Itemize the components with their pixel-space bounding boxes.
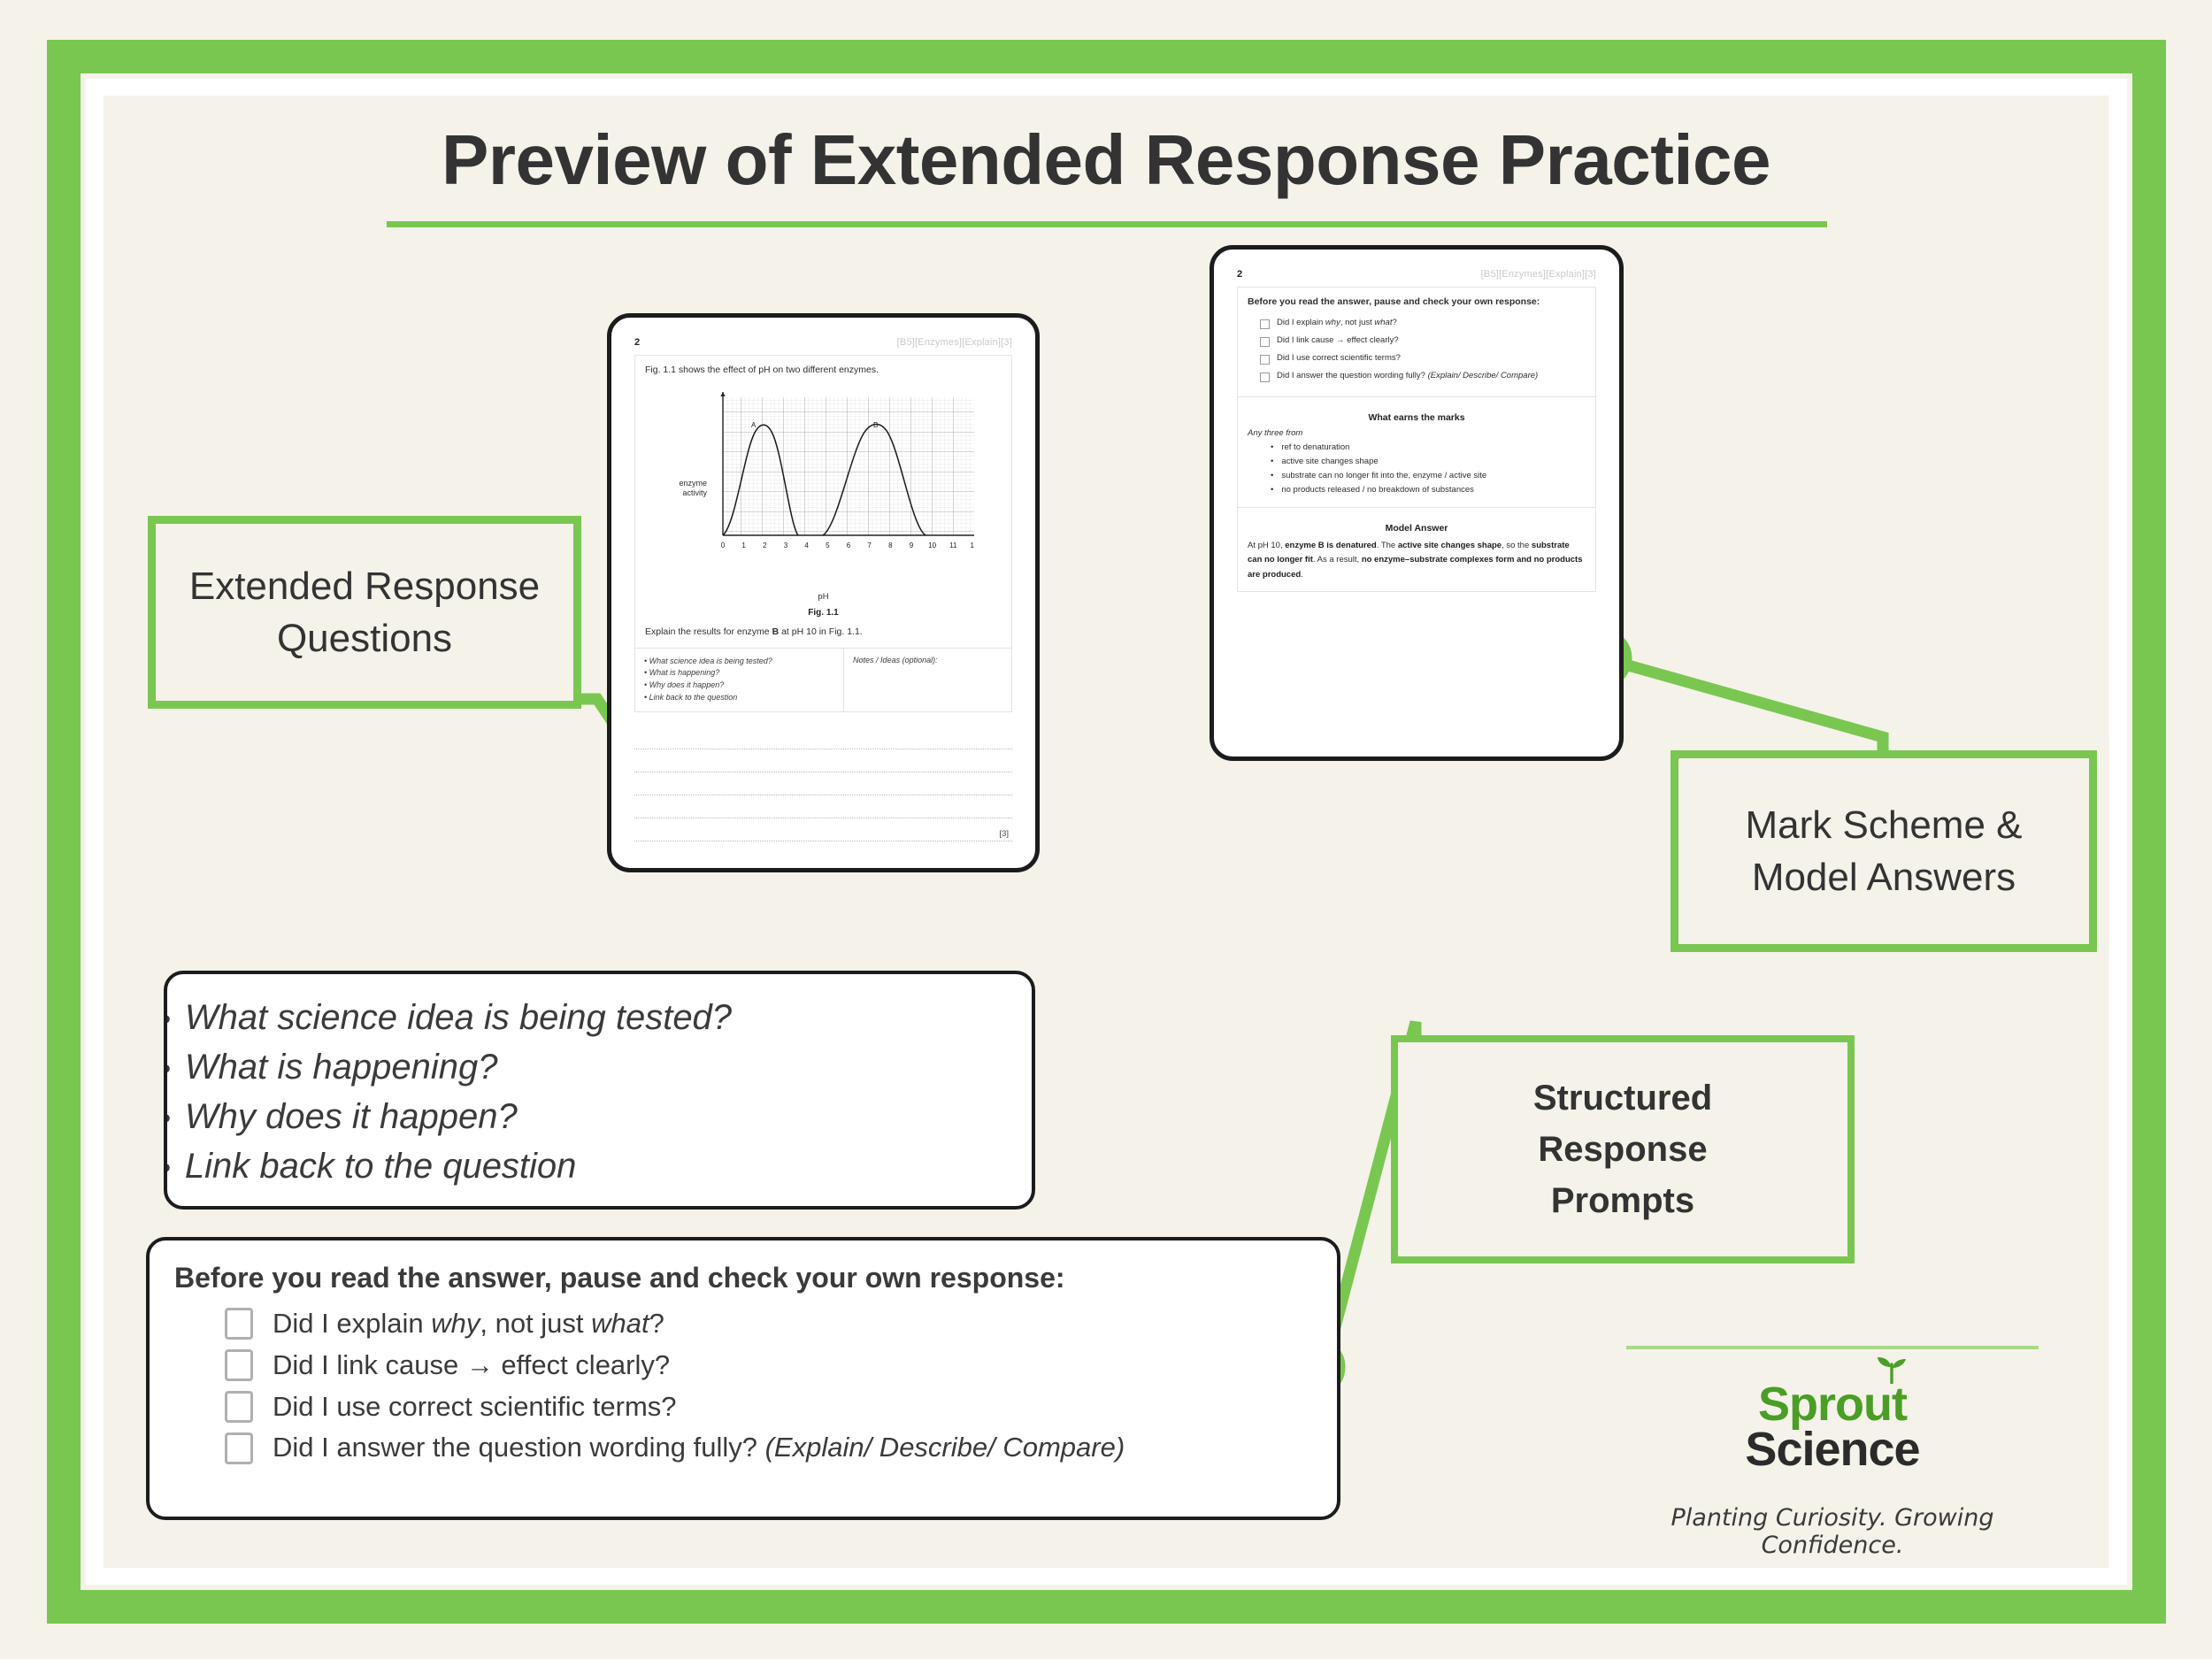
answer-line[interactable] — [634, 726, 1012, 749]
ms-checklist-title: Before you read the answer, pause and ch… — [1248, 296, 1586, 310]
checkbox-icon[interactable] — [1260, 319, 1270, 329]
ms-marks-header: What earns the marks — [1248, 412, 1586, 423]
question-sheet-inner: 2 [B5][Enzymes][Explain][3] Fig. 1.1 sho… — [611, 318, 1035, 868]
ms-checklist-label: Did I answer the question wording fully?… — [1277, 371, 1538, 381]
zoom-prompt-label: Link back to the question — [185, 1146, 577, 1187]
ms-checklist-item[interactable]: Did I explain why, not just what? — [1260, 318, 1586, 329]
ms-mark-point: • no products released / no breakdown of… — [1271, 485, 1586, 495]
checkbox-icon[interactable] — [225, 1432, 253, 1464]
notes-column[interactable]: Notes / Ideas (optional): — [844, 649, 1011, 712]
ms-checklist-box: Before you read the answer, pause and ch… — [1237, 287, 1596, 397]
prompt-list: • What science idea is being tested? • W… — [635, 649, 844, 712]
zoom-prompt-item: • What science idea is being tested? — [164, 997, 1032, 1038]
zoom-structured-prompts: • What science idea is being tested? • W… — [164, 971, 1035, 1210]
answer-line[interactable] — [634, 772, 1012, 795]
svg-text:12: 12 — [971, 541, 974, 549]
prompt-item: • What is happening? — [644, 667, 834, 680]
prompt-item: • What science idea is being tested? — [644, 656, 834, 668]
page-title: Preview of Extended Response Practice — [0, 119, 2212, 201]
zoom-prompt-item: • Why does it happen? — [164, 1096, 1032, 1137]
bullet-icon: • — [1271, 471, 1273, 480]
svg-text:2: 2 — [763, 541, 767, 549]
svg-text:9: 9 — [910, 541, 914, 549]
callout-extended-response-questions[interactable]: Extended ResponseQuestions — [148, 516, 581, 709]
title-underline — [387, 221, 1827, 227]
checkbox-icon[interactable] — [225, 1308, 253, 1340]
question-body-box: Fig. 1.1 shows the effect of pH on two d… — [634, 355, 1012, 649]
ms-question-tag: [B5][Enzymes][Explain][3] — [1481, 269, 1596, 280]
svg-text:A: A — [751, 421, 757, 429]
bullet-icon: • — [164, 1052, 171, 1087]
zoom-checklist-item[interactable]: Did I answer the question wording fully?… — [225, 1431, 1337, 1465]
answer-line[interactable] — [634, 749, 1012, 772]
ms-checklist-item[interactable]: Did I link cause → effect clearly? — [1260, 335, 1586, 347]
mark-scheme-inner: 2 [B5][Enzymes][Explain][3] Before you r… — [1214, 250, 1619, 757]
ms-mark-point: • ref to denaturation — [1271, 442, 1586, 452]
prompt-item: • Link back to the question — [644, 692, 834, 704]
ms-any-three-from: Any three from — [1248, 428, 1586, 438]
mark-scheme-card[interactable]: 2 [B5][Enzymes][Explain][3] Before you r… — [1210, 245, 1624, 761]
svg-text:6: 6 — [847, 541, 851, 549]
brand-tagline: Planting Curiosity. Growing Confidence. — [1626, 1504, 2039, 1559]
svg-text:8: 8 — [888, 541, 893, 549]
zoom-prompt-list: • What science idea is being tested? • W… — [167, 974, 1032, 1187]
zoom-checklist-label: Did I answer the question wording fully?… — [273, 1431, 1125, 1465]
marks-allocation: [3] — [999, 829, 1009, 839]
graph-x-axis-label: pH — [645, 592, 1002, 602]
answer-line[interactable] — [634, 795, 1012, 818]
checkbox-icon[interactable] — [225, 1391, 253, 1423]
ms-mark-point: • active site changes shape — [1271, 457, 1586, 466]
zoom-prompt-label: What is happening? — [185, 1047, 498, 1087]
ms-question-number: 2 — [1237, 269, 1242, 280]
svg-text:11: 11 — [949, 541, 957, 549]
ms-mark-point-label: substrate can no longer fit into the, en… — [1281, 471, 1486, 480]
question-sheet-card[interactable]: 2 [B5][Enzymes][Explain][3] Fig. 1.1 sho… — [607, 313, 1040, 872]
ms-checklist-label: Did I explain why, not just what? — [1277, 318, 1397, 328]
zoom-checklist-title: Before you read the answer, pause and ch… — [174, 1262, 1337, 1294]
zoom-checklist-item[interactable]: Did I explain why, not just what? — [225, 1307, 1337, 1341]
svg-text:3: 3 — [784, 541, 788, 549]
graph-y-label-line2: activity — [652, 488, 707, 498]
prompt-notes-row: • What science idea is being tested? • W… — [634, 649, 1012, 713]
checkbox-icon[interactable] — [1260, 337, 1270, 347]
zoom-checklist-label: Did I use correct scientific terms? — [273, 1390, 677, 1425]
logo-word-sprout: Sprout — [1758, 1380, 1907, 1428]
svg-text:5: 5 — [826, 541, 830, 549]
ms-model-answer-header: Model Answer — [1248, 523, 1586, 534]
ms-model-answer-box: Model Answer At pH 10, enzyme B is denat… — [1237, 508, 1596, 592]
graph-plot: A B 012 345 678 91011 12 — [719, 392, 974, 557]
checkbox-icon[interactable] — [1260, 373, 1270, 382]
graph-y-label-line1: enzyme — [652, 479, 707, 488]
question-instruction: Explain the results for enzyme B at pH 1… — [645, 626, 1002, 640]
bullet-icon: • — [164, 1151, 171, 1186]
bullet-icon: • — [164, 1002, 171, 1037]
zoom-checklist-item[interactable]: Did I use correct scientific terms? — [225, 1390, 1337, 1425]
bullet-icon: • — [1271, 485, 1273, 495]
ms-mark-point-label: ref to denaturation — [1281, 442, 1349, 452]
svg-text:1: 1 — [741, 541, 746, 549]
zoom-prompt-label: Why does it happen? — [185, 1096, 518, 1137]
question-tag: [B5][Enzymes][Explain][3] — [897, 337, 1012, 348]
callout-label: Extended ResponseQuestions — [189, 560, 540, 665]
footer-divider — [1626, 1346, 2039, 1349]
logo-sprout-text: Sprout — [1758, 1378, 1907, 1431]
answer-line[interactable] — [634, 818, 1012, 841]
svg-text:B: B — [873, 421, 878, 429]
callout-label: StructuredResponsePrompts — [1533, 1072, 1712, 1226]
sprout-icon — [1871, 1357, 1912, 1384]
svg-text:10: 10 — [928, 541, 936, 549]
ms-mark-point-label: no products released / no breakdown of s… — [1281, 485, 1474, 495]
ms-checklist-label: Did I link cause → effect clearly? — [1277, 335, 1399, 346]
callout-structured-response-prompts[interactable]: StructuredResponsePrompts — [1391, 1035, 1855, 1263]
question-intro: Fig. 1.1 shows the effect of pH on two d… — [645, 364, 1002, 378]
figure-caption: Fig. 1.1 — [645, 608, 1002, 618]
logo-word-science: Science — [1626, 1425, 2039, 1475]
zoom-prompt-item: • Link back to the question — [164, 1146, 1032, 1187]
svg-text:0: 0 — [721, 541, 726, 549]
zoom-checklist-item[interactable]: Did I link cause → effect clearly? — [225, 1348, 1337, 1383]
bullet-icon: • — [164, 1102, 171, 1136]
zoom-prompt-label: What science idea is being tested? — [185, 997, 732, 1038]
ms-checklist-label: Did I use correct scientific terms? — [1277, 353, 1401, 364]
bullet-icon: • — [1271, 457, 1273, 466]
zoom-checklist-label: Did I link cause → effect clearly? — [273, 1348, 670, 1383]
bullet-icon: • — [1271, 442, 1273, 452]
zoom-self-check-checklist: Before you read the answer, pause and ch… — [146, 1237, 1340, 1520]
ms-checklist-item[interactable]: Did I use correct scientific terms? — [1260, 353, 1586, 365]
answer-lines[interactable]: [3] — [634, 726, 1012, 841]
ph-enzyme-graph: enzyme activity enzyme activity — [645, 387, 1002, 590]
checkbox-icon[interactable] — [225, 1349, 253, 1381]
zoom-checklist-label: Did I explain why, not just what? — [273, 1307, 664, 1341]
graph-y-axis-label: enzyme activity enzyme activity — [652, 479, 707, 499]
svg-text:7: 7 — [867, 541, 872, 549]
notes-header: Notes / Ideas (optional): — [853, 656, 1002, 664]
mark-scheme-header: 2 [B5][Enzymes][Explain][3] — [1237, 269, 1596, 280]
checkbox-icon[interactable] — [1260, 355, 1270, 365]
svg-text:4: 4 — [804, 541, 809, 549]
ms-mark-point-label: active site changes shape — [1281, 457, 1378, 466]
ms-checklist-item[interactable]: Did I answer the question wording fully?… — [1260, 371, 1586, 382]
callout-label: Mark Scheme &Model Answers — [1746, 799, 2023, 904]
question-sheet-header: 2 [B5][Enzymes][Explain][3] — [634, 337, 1012, 348]
prompt-item: • Why does it happen? — [644, 680, 834, 692]
zoom-prompt-item: • What is happening? — [164, 1047, 1032, 1087]
ms-marks-box: What earns the marks Any three from • re… — [1237, 397, 1596, 508]
brand-logo: Sprout Science — [1626, 1380, 2039, 1475]
question-number: 2 — [634, 337, 640, 348]
callout-mark-scheme-model-answers[interactable]: Mark Scheme &Model Answers — [1671, 750, 2097, 952]
ms-model-answer-text: At pH 10, enzyme B is denatured. The act… — [1248, 539, 1586, 583]
ms-mark-point: • substrate can no longer fit into the, … — [1271, 471, 1586, 480]
